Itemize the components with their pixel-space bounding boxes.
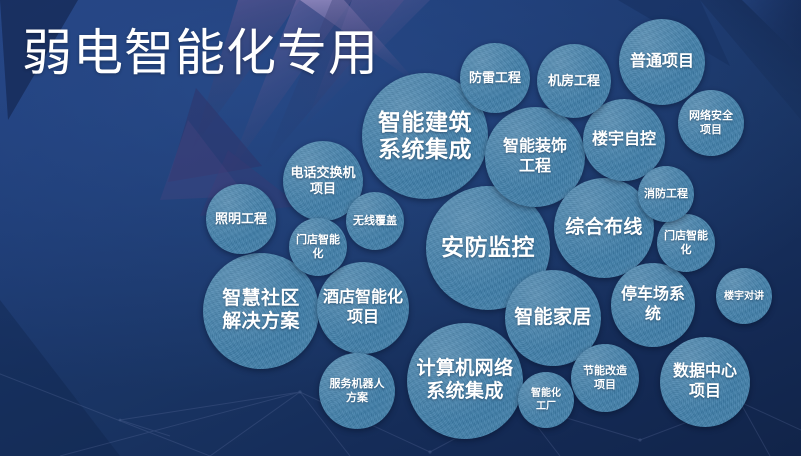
bubble-item[interactable]: 智能化 工厂 [518, 372, 574, 428]
bubble-label: 安防监控 [430, 234, 546, 261]
bubble-item[interactable]: 酒店智能化 项目 [317, 262, 409, 354]
bubble-label: 计算机网络 系统集成 [411, 358, 519, 404]
bubble-label: 门店智能 化 [293, 233, 343, 261]
bubble-item[interactable]: 普通项目 [619, 19, 705, 105]
bubble-item[interactable]: 照明工程 [206, 184, 276, 254]
bubble-label: 消防工程 [642, 187, 690, 201]
bubble-item[interactable]: 防雷工程 [460, 43, 530, 113]
bubble-label: 服务机器人 方案 [323, 377, 391, 405]
bubble-label: 普通项目 [623, 52, 701, 72]
bubble-label: 智能化 工厂 [522, 387, 570, 413]
bubble-item[interactable]: 网络安全 项目 [678, 90, 744, 156]
bubble-label: 停车场系 统 [615, 285, 691, 324]
bubble-item[interactable]: 节能改造 项目 [571, 344, 639, 412]
bubble-label: 楼宇对讲 [720, 290, 768, 303]
bubble-label: 智能家居 [509, 307, 597, 330]
bubble-label: 照明工程 [210, 211, 272, 227]
bubble-label: 酒店智能化 项目 [321, 288, 405, 327]
bubble-label: 防雷工程 [464, 70, 526, 86]
bubble-label: 智慧社区 解决方案 [207, 288, 315, 334]
bubble-label: 楼宇自控 [587, 130, 661, 150]
bubble-item[interactable]: 消防工程 [638, 166, 694, 222]
bubble-item[interactable]: 门店智能 化 [657, 214, 715, 272]
bubble-label: 电话交换机 项目 [287, 165, 359, 198]
bubble-item[interactable]: 计算机网络 系统集成 [407, 323, 523, 439]
bubble-label: 门店智能 化 [661, 229, 711, 257]
bubble-label: 智能装饰 工程 [489, 137, 581, 176]
bubble-item[interactable]: 无线覆盖 [346, 192, 404, 250]
bubble-label: 无线覆盖 [350, 214, 400, 228]
bubble-label: 机房工程 [541, 73, 607, 89]
slide-canvas: 弱电智能化专用 智能建筑 系统集成安防监控计算机网络 系统集成智慧社区 解决方案… [0, 0, 801, 456]
bubble-cloud: 智能建筑 系统集成安防监控计算机网络 系统集成智慧社区 解决方案智能装饰 工程综… [0, 0, 801, 456]
bubble-label: 节能改造 项目 [575, 364, 635, 392]
bubble-item[interactable]: 楼宇对讲 [716, 268, 772, 324]
bubble-label: 网络安全 项目 [682, 109, 740, 137]
bubble-label: 综合布线 [558, 217, 650, 240]
bubble-item[interactable]: 数据中心 项目 [660, 337, 750, 427]
bubble-item[interactable]: 机房工程 [537, 44, 611, 118]
bubble-label: 智能建筑 系统集成 [366, 109, 484, 163]
bubble-item[interactable]: 停车场系 统 [611, 263, 695, 347]
bubble-item[interactable]: 服务机器人 方案 [319, 353, 395, 429]
bubble-item[interactable]: 门店智能 化 [289, 218, 347, 276]
bubble-label: 数据中心 项目 [664, 362, 746, 401]
